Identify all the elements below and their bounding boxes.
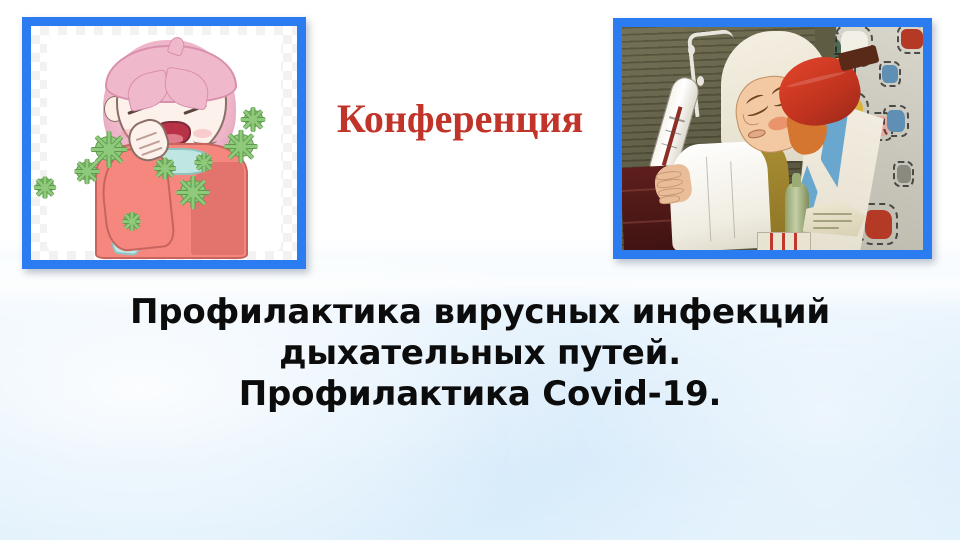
- heading-line-3: Профилактика Covid-19.: [80, 374, 880, 415]
- cartoon-medicine-box: [757, 232, 810, 250]
- paper-scribble: [813, 227, 840, 229]
- image-coughing-girl: [31, 26, 297, 260]
- quilt-patch: [865, 210, 891, 239]
- girl-illustration-canvas: [31, 26, 297, 260]
- paper-scribble: [813, 220, 852, 222]
- paper-scribble: [813, 213, 852, 215]
- virus-particle-icon: [156, 159, 174, 175]
- virus-particle-icon: [244, 110, 263, 127]
- virus-particle-icon: [95, 136, 124, 161]
- virus-particle-icon: [36, 178, 54, 194]
- shirt-fold: [730, 162, 736, 239]
- quilt-patch: [901, 29, 923, 49]
- virus-particle-icon: [228, 134, 254, 157]
- girl-hand-knuckle: [142, 146, 163, 155]
- girl-hand-knuckle: [136, 132, 157, 141]
- virus-particle-icon: [124, 213, 139, 227]
- slide-heading: Профилактика вирусных инфекций дыхательн…: [80, 292, 880, 414]
- shirt-fold: [706, 156, 712, 242]
- girl-sweater-shadow: [191, 162, 244, 256]
- box-stripe: [794, 233, 797, 250]
- virus-particle-icon: [76, 162, 97, 180]
- boy-nose: [743, 111, 759, 126]
- presentation-slide: Конференция Профилактика вирусных инфекц…: [0, 0, 960, 540]
- quilt-patch: [882, 65, 898, 83]
- heading-line-2: дыхательных путей.: [80, 333, 880, 374]
- bottle-neck: [792, 173, 802, 187]
- quilt-patch: [887, 110, 905, 132]
- image-frame-coughing-girl[interactable]: [22, 17, 306, 269]
- box-stripe: [770, 233, 773, 250]
- bottle-ridge: [786, 70, 845, 88]
- heading-line-1: Профилактика вирусных инфекций: [80, 292, 880, 333]
- cartoon-still-canvas: [622, 27, 923, 250]
- virus-particle-icon: [196, 155, 211, 169]
- quilt-patch: [897, 165, 911, 183]
- box-stripe: [782, 233, 785, 250]
- image-sick-boy-cartoon: [622, 27, 923, 250]
- slide-title: Конференция: [310, 98, 610, 140]
- image-frame-sick-boy[interactable]: [613, 18, 932, 259]
- boy-mouth: [748, 128, 767, 140]
- virus-particle-icon: [180, 180, 206, 203]
